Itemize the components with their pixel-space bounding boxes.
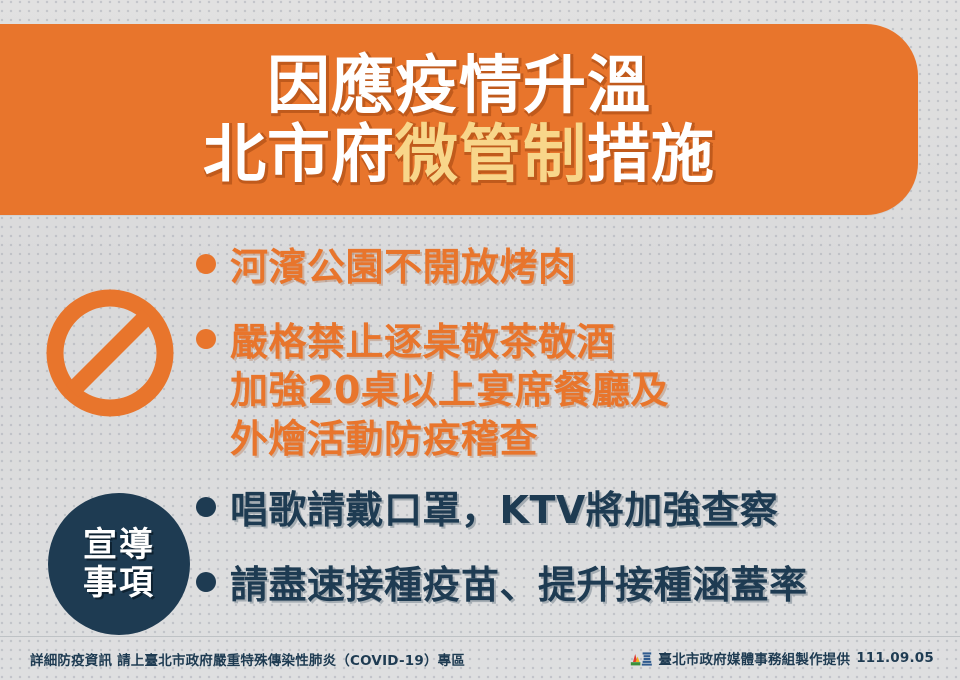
footer-credit: 臺北市政府媒體事務組製作提供 111.09.05: [630, 648, 934, 668]
list-item-advisory-1: 唱歌請戴口罩，KTV將加強查察: [196, 486, 778, 534]
list-item-line: 嚴格禁止逐桌敬茶敬酒: [230, 318, 669, 366]
list-item-text: 請盡速接種疫苗、提升接種涵蓋率: [230, 561, 808, 609]
content-area: 宣導 事項 河濱公園不開放烤肉 嚴格禁止逐桌敬茶敬酒 加強20桌以上宴席餐廳及 …: [0, 215, 960, 635]
list-item-line: 請盡速接種疫苗、提升接種涵蓋率: [230, 561, 808, 609]
list-item-restriction-2: 嚴格禁止逐桌敬茶敬酒 加強20桌以上宴席餐廳及 外燴活動防疫稽查: [196, 318, 669, 463]
list-item-text: 唱歌請戴口罩，KTV將加強查察: [230, 486, 778, 534]
title-line-1: 因應疫情升溫: [267, 53, 651, 120]
bullet-dot-icon: [196, 497, 216, 517]
bullet-dot-icon: [196, 329, 216, 349]
notice-badge: 宣導 事項: [48, 493, 190, 635]
title-line-2-part2: 措施: [587, 118, 715, 191]
footer-credit-text: 臺北市政府媒體事務組製作提供: [658, 648, 850, 668]
taipei-city-government-logo-icon: [630, 650, 652, 667]
footer: 詳細防疫資訊 請上臺北市政府嚴重特殊傳染性肺炎（COVID-19）專區 臺北市政…: [0, 636, 960, 680]
footer-credit-date: 111.09.05: [856, 650, 934, 666]
footer-divider: [0, 636, 960, 637]
notice-badge-line-1: 宣導: [83, 526, 155, 564]
list-item-line: 河濱公園不開放烤肉: [230, 243, 577, 291]
footer-info-text: 詳細防疫資訊 請上臺北市政府嚴重特殊傳染性肺炎（COVID-19）專區: [30, 649, 465, 669]
title-band: 因應疫情升溫 北市府微管制措施: [0, 24, 918, 215]
list-item-line: 唱歌請戴口罩，KTV將加強查察: [230, 486, 778, 534]
title-line-2-part1: 北市府: [203, 118, 395, 191]
infographic-poster: 因應疫情升溫 北市府微管制措施 宣導 事項: [0, 0, 960, 680]
list-item-line: 外燴活動防疫稽查: [230, 415, 669, 463]
notice-badge-line-2: 事項: [83, 564, 155, 602]
list-item-advisory-2: 請盡速接種疫苗、提升接種涵蓋率: [196, 561, 808, 609]
bullet-dot-icon: [196, 254, 216, 274]
bullet-dot-icon: [196, 572, 216, 592]
badge-column: 宣導 事項: [0, 215, 200, 635]
list-item-text: 嚴格禁止逐桌敬茶敬酒 加強20桌以上宴席餐廳及 外燴活動防疫稽查: [230, 318, 669, 463]
prohibition-icon: [44, 287, 176, 419]
list-item-text: 河濱公園不開放烤肉: [230, 243, 577, 291]
list-item-restriction-1: 河濱公園不開放烤肉: [196, 243, 577, 291]
title-line-2-highlight: 微管制: [395, 118, 587, 191]
title-line-2: 北市府微管制措施: [203, 122, 715, 189]
list-item-line: 加強20桌以上宴席餐廳及: [230, 366, 669, 414]
title-inner: 因應疫情升溫 北市府微管制措施: [0, 24, 918, 215]
bullet-list: 河濱公園不開放烤肉 嚴格禁止逐桌敬茶敬酒 加強20桌以上宴席餐廳及 外燴活動防疫…: [196, 215, 956, 635]
